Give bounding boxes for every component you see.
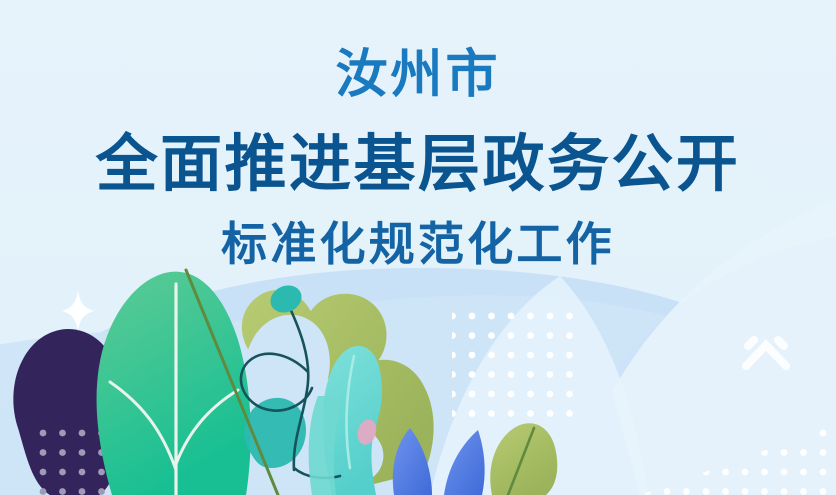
poster-banner: 汝州市 全面推进基层政务公开 标准化规范化工作 (0, 0, 836, 495)
olive-leaf-right (490, 423, 557, 495)
sparkle-icon (62, 290, 94, 331)
foliage-layer (0, 0, 836, 495)
chevron-up-icon (746, 340, 786, 366)
blue-pointed-leaf-right (444, 430, 485, 495)
